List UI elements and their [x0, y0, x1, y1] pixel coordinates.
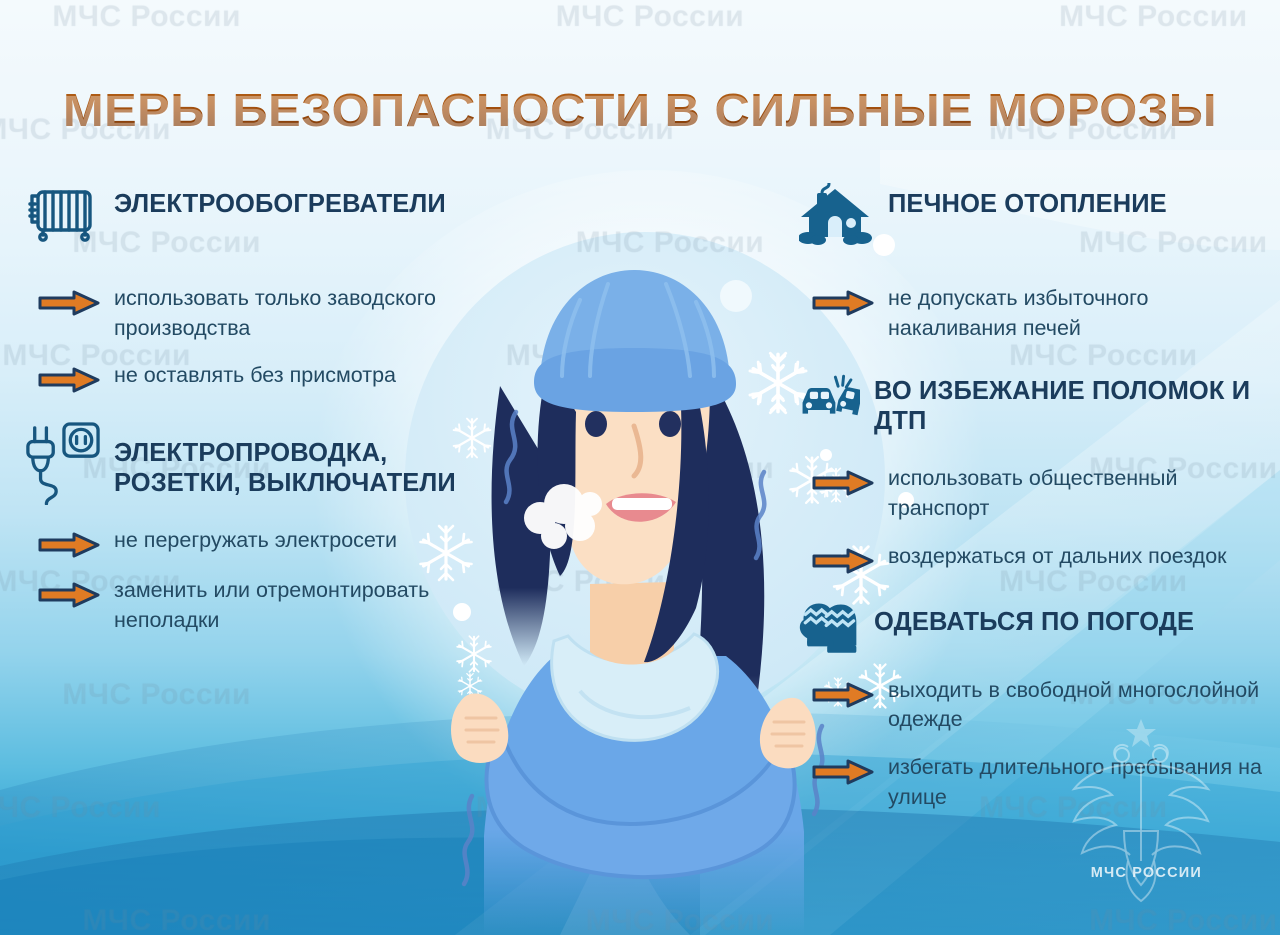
tip-item: использовать общественный транспорт — [812, 464, 1268, 523]
tip-text: не перегружать электросети — [114, 526, 397, 556]
block-heading: ВО ИЗБЕЖАНИЕ ПОЛОМОК И ДТП — [874, 371, 1268, 436]
tip-text: не допускать избыточного накаливания печ… — [888, 284, 1268, 343]
left-column: ЭЛЕКТРООБОГРЕВАТЕЛИ использовать только … — [24, 184, 494, 642]
tip-item: воздержаться от дальних поездок — [812, 542, 1268, 574]
infographic-poster: МЧС РоссииМЧС РоссииМЧС России МЧС Росси… — [0, 0, 1280, 935]
tip-text: не оставлять без присмотра — [114, 361, 396, 391]
tip-item: заменить или отремонтировать неполадки — [38, 576, 494, 635]
car-crash-icon — [798, 371, 860, 427]
tip-item: не оставлять без присмотра — [38, 361, 494, 393]
arrow-icon — [38, 532, 100, 558]
radiator-icon — [24, 184, 100, 244]
mittens-icon — [798, 602, 860, 658]
block-wiring-sockets-switches: ЭЛЕКТРОПРОВОДКА, РОЗЕТКИ, ВЫКЛЮЧАТЕЛИ не… — [24, 433, 494, 635]
tip-text: заменить или отремонтировать неполадки — [114, 576, 494, 635]
page-title: МЕРЫ БЕЗОПАСНОСТИ В СИЛЬНЫЕ МОРОЗЫ — [0, 83, 1280, 137]
tip-item: не перегружать электросети — [38, 526, 494, 558]
block-header: ОДЕВАТЬСЯ ПО ПОГОДЕ — [798, 602, 1268, 658]
arrow-icon — [38, 367, 100, 393]
block-header: ВО ИЗБЕЖАНИЕ ПОЛОМОК И ДТП — [798, 371, 1268, 436]
block-header: ЭЛЕКТРОПРОВОДКА, РОЗЕТКИ, ВЫКЛЮЧАТЕЛИ — [24, 433, 494, 498]
block-electric-heaters: ЭЛЕКТРООБОГРЕВАТЕЛИ использовать только … — [24, 184, 494, 393]
arrow-icon — [812, 759, 874, 785]
arrow-icon — [812, 682, 874, 708]
tip-text: использовать общественный транспорт — [888, 464, 1268, 523]
block-header: ПЕЧНОЕ ОТОПЛЕНИЕ — [798, 184, 1268, 244]
block-heading: ЭЛЕКТРООБОГРЕВАТЕЛИ — [114, 184, 446, 220]
arrow-icon — [812, 290, 874, 316]
arrow-icon — [38, 290, 100, 316]
tip-item: не допускать избыточного накаливания печ… — [812, 284, 1268, 343]
block-heading: ПЕЧНОЕ ОТОПЛЕНИЕ — [888, 184, 1167, 220]
house-chimney-icon — [798, 184, 874, 244]
block-breakdowns-accidents: ВО ИЗБЕЖАНИЕ ПОЛОМОК И ДТП использовать … — [798, 371, 1268, 573]
arrow-icon — [812, 548, 874, 574]
emblem-label: МЧС РОССИИ — [1091, 865, 1202, 881]
emchs-eagle-emblem-watermark — [1046, 711, 1236, 911]
tip-text: использовать только заводского производс… — [114, 284, 494, 343]
arrow-icon — [38, 582, 100, 608]
block-heading: ОДЕВАТЬСЯ ПО ПОГОДЕ — [874, 602, 1194, 638]
arrow-icon — [812, 470, 874, 496]
plug-socket-icon — [24, 433, 100, 493]
block-stove-heating: ПЕЧНОЕ ОТОПЛЕНИЕ не допускать избыточног… — [798, 184, 1268, 343]
tip-text: воздержаться от дальних поездок — [888, 542, 1227, 572]
block-header: ЭЛЕКТРООБОГРЕВАТЕЛИ — [24, 184, 494, 244]
tip-item: использовать только заводского производс… — [38, 284, 494, 343]
block-heading: ЭЛЕКТРОПРОВОДКА, РОЗЕТКИ, ВЫКЛЮЧАТЕЛИ — [114, 433, 494, 498]
